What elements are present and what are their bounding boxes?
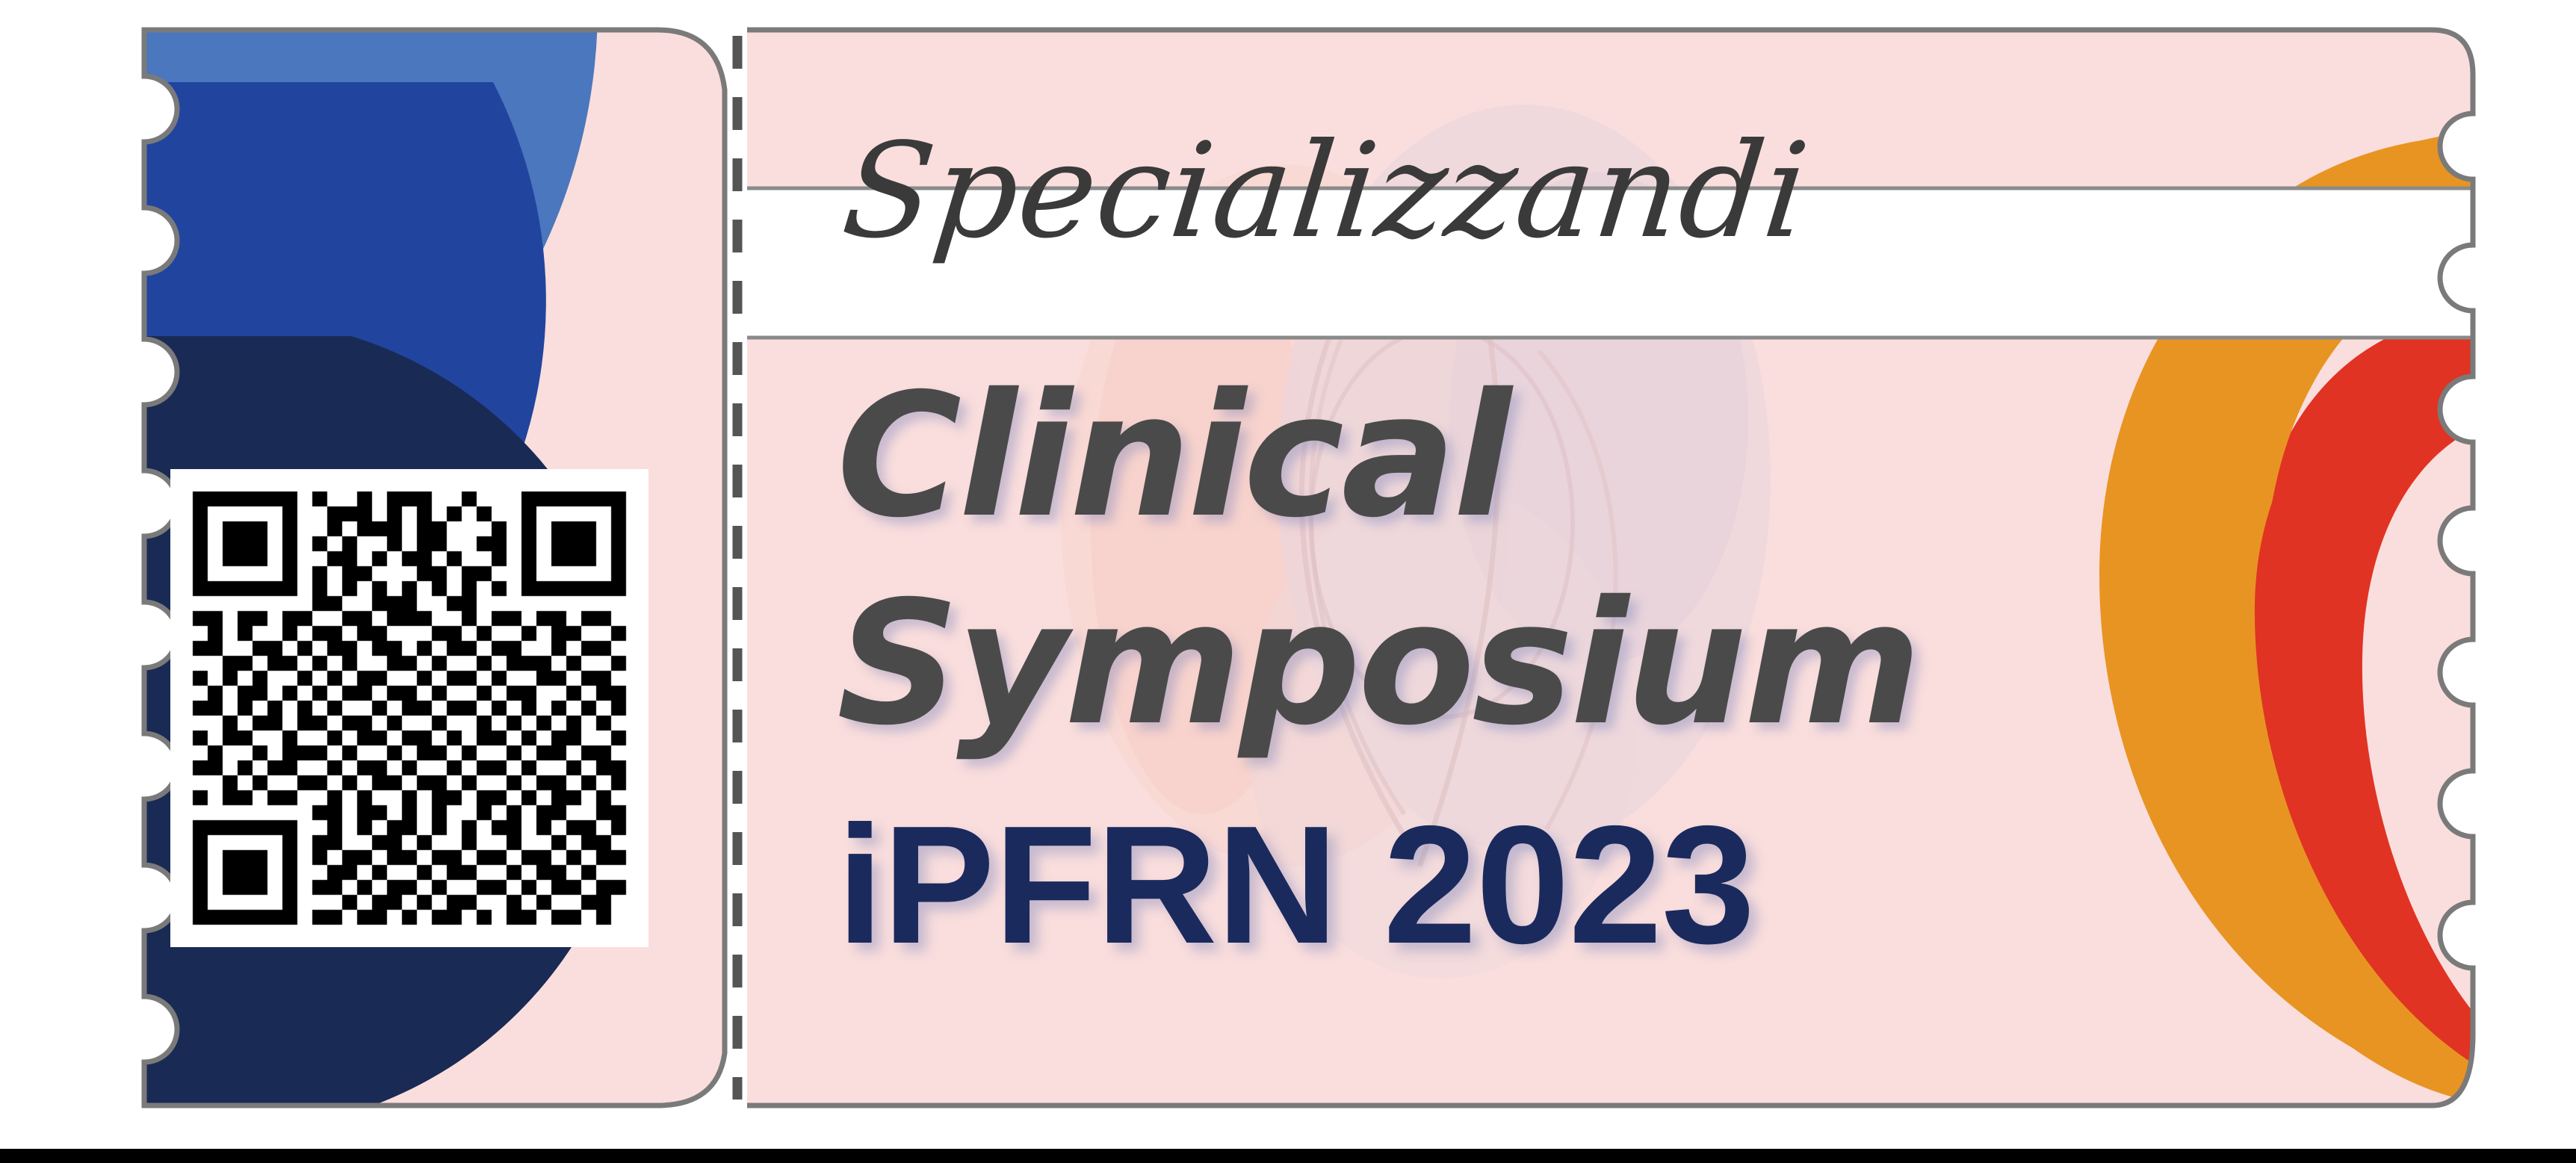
event-name-ipfrn-2023: iPFRN 2023 <box>837 788 1754 981</box>
qr-code-canvas <box>170 469 648 947</box>
qr-code[interactable] <box>170 469 648 947</box>
title-line-clinical: Clinical <box>837 356 1508 555</box>
ticket-screenshot: Specializzandi Clinical Symposium iPFRN … <box>0 0 2576 1163</box>
bottom-black-bar <box>0 1149 2576 1163</box>
kicker-specializzandi: Specializzandi <box>836 116 1815 267</box>
title-line-symposium: Symposium <box>837 564 1919 763</box>
